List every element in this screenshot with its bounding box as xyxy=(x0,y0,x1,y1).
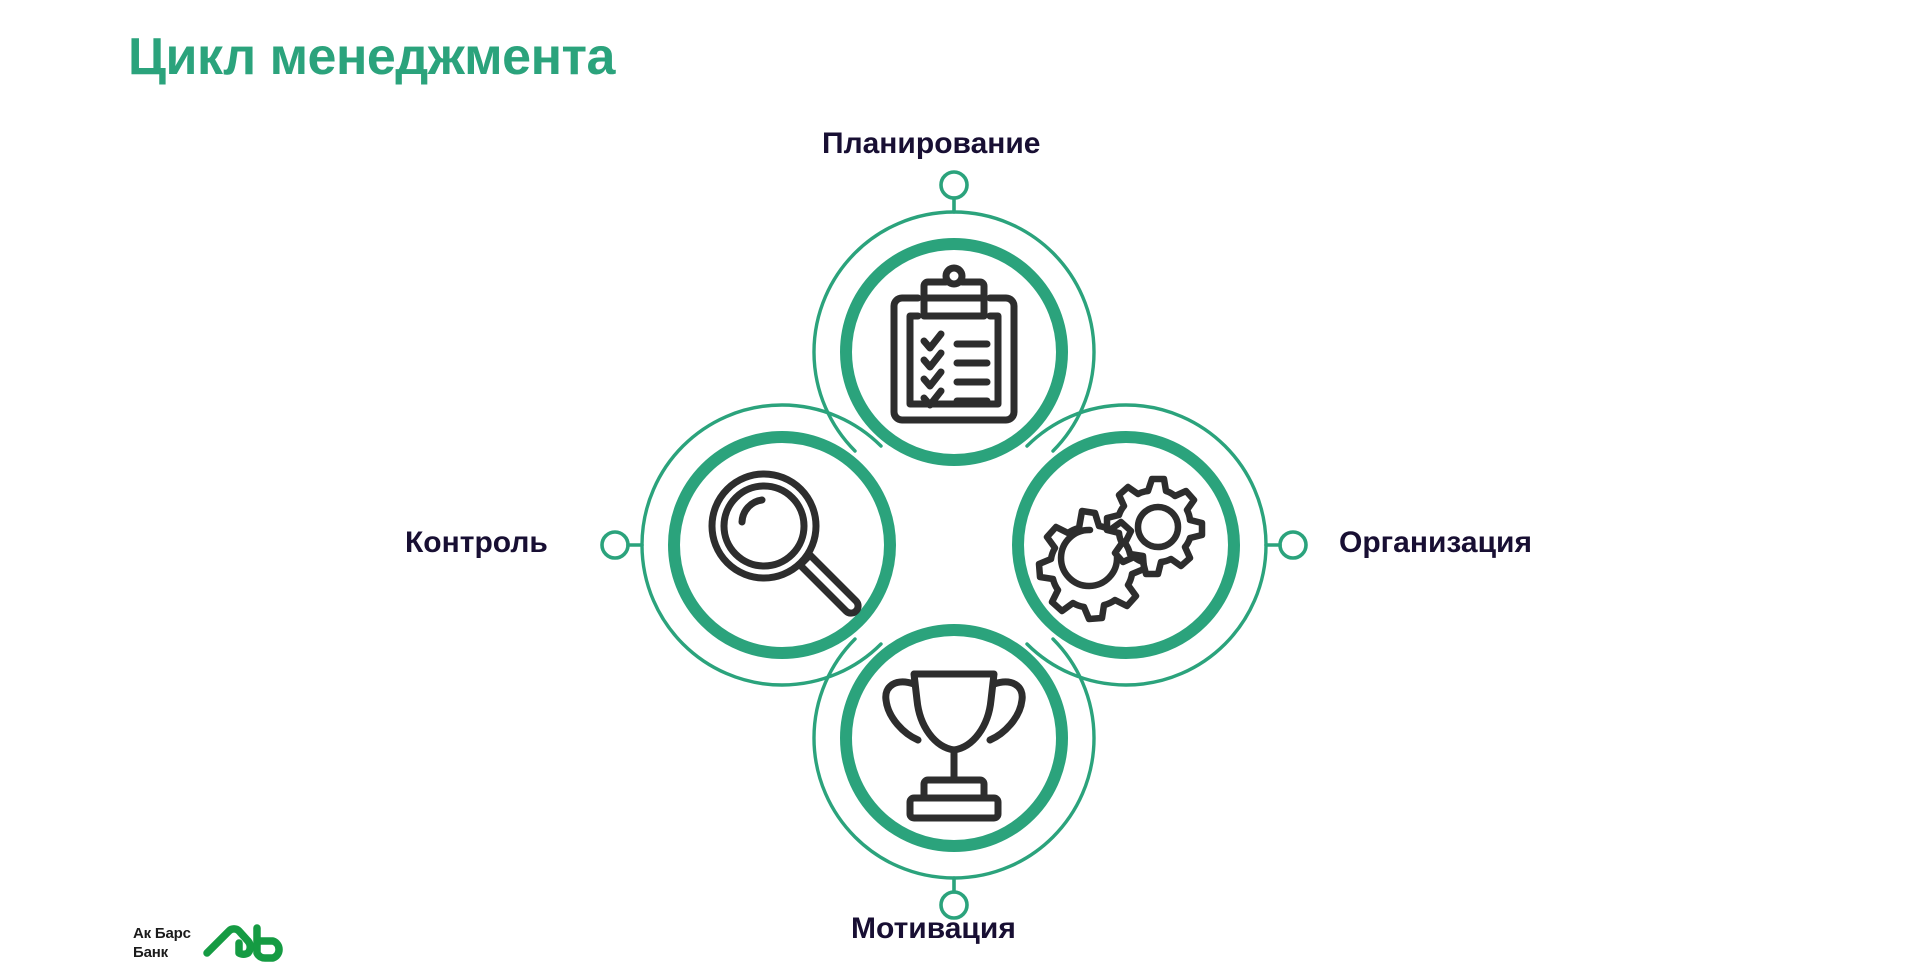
brand-logo-text: Ак Барс Банк xyxy=(133,924,191,962)
node-label-control: Контроль xyxy=(405,528,548,558)
node-label-planning: Планирование xyxy=(822,129,1041,159)
brand-logo: Ак Барс Банк xyxy=(133,922,287,964)
connector-node-left xyxy=(602,532,628,558)
management-cycle-diagram: Планирование Организация Мотивация Контр… xyxy=(0,0,1908,980)
node-label-organization: Организация xyxy=(1339,528,1532,558)
connector-node-top xyxy=(941,172,967,198)
connector-node-right xyxy=(1280,532,1306,558)
ring-motivation xyxy=(846,630,1062,846)
ak-bars-logo-mark xyxy=(203,922,287,964)
ring-control xyxy=(674,437,890,653)
ring-planning xyxy=(846,244,1062,460)
brand-logo-line1: Ак Барс xyxy=(133,924,191,943)
node-label-motivation: Мотивация xyxy=(851,914,1016,944)
brand-logo-line2: Банк xyxy=(133,943,191,962)
